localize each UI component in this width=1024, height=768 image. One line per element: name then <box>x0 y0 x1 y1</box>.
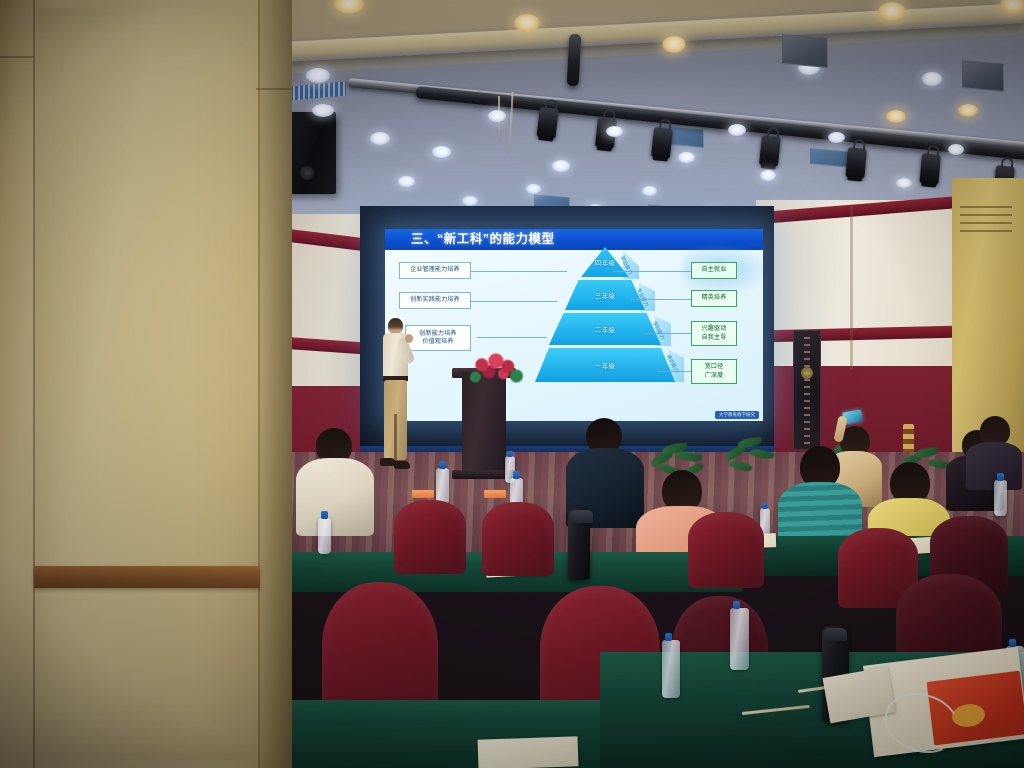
leader-line <box>477 337 547 338</box>
potted-plant <box>724 436 780 480</box>
audience-member-man-white-shirt <box>296 428 374 534</box>
pillar-face <box>34 8 260 760</box>
pyramid-tier-year2: 二年级 <box>549 313 661 345</box>
leader-line <box>657 371 693 372</box>
banquet-chair[interactable] <box>394 500 466 574</box>
person-torso <box>296 458 374 536</box>
projection-screen: 三、“新工科”的能力模型 一年级 二年级 三年级 四年级 职业能力 专业能力 学… <box>385 229 763 421</box>
slide-left-box-1: 企业管理能力培养 <box>399 262 471 279</box>
place-name-card <box>484 490 506 498</box>
paper-sheet <box>478 736 579 768</box>
box-line: 自主就业 <box>702 266 727 274</box>
ceiling-downlight <box>398 176 415 187</box>
stage-spotlight <box>759 135 781 167</box>
slide-left-box-2: 创新实践能力培养 <box>399 292 471 309</box>
box-line: 价值观培养 <box>422 338 453 346</box>
audience-member-left-far <box>966 416 1022 486</box>
ceiling-downlight <box>526 184 541 194</box>
leader-line <box>471 301 557 302</box>
foreground-wall-pillar <box>0 0 292 768</box>
ceiling-downlight <box>896 178 912 188</box>
stage-spotlight <box>845 147 867 179</box>
ac-vent <box>782 34 828 68</box>
ceiling-downlight <box>370 132 390 145</box>
presenter-hand <box>405 334 413 343</box>
wall-accent-band <box>756 196 964 225</box>
door-stud-row <box>804 337 810 445</box>
pillar-edge-shadow <box>260 0 292 768</box>
capability-pyramid: 一年级 二年级 三年级 四年级 职业能力 专业能力 学科能力 通识能力 <box>535 247 675 389</box>
water-bottle <box>994 480 1007 516</box>
ceiling-downlight <box>514 14 540 32</box>
stage-spotlight <box>919 153 941 185</box>
leader-line <box>471 271 567 272</box>
podium <box>462 372 506 478</box>
ceiling-downlight <box>552 160 570 172</box>
pillar-wood-trim <box>34 566 260 588</box>
water-bottle <box>318 518 331 554</box>
leader-line <box>631 299 693 300</box>
ceiling-downlight <box>678 152 695 163</box>
presenter <box>378 318 412 470</box>
ceiling-downlight <box>828 132 845 143</box>
water-bottle <box>730 608 749 670</box>
door-emblem-icon <box>801 367 813 379</box>
ceiling-downlight <box>760 170 776 181</box>
ceiling-downlight <box>958 104 978 117</box>
flower-arrangement <box>470 352 524 384</box>
slide-footer-logo: 大学教育教学研究 <box>715 411 759 419</box>
stage-spotlight <box>536 107 559 139</box>
ceiling-downlight <box>948 144 964 155</box>
pillar-seam <box>0 56 34 58</box>
ceiling-downlight <box>306 68 330 83</box>
place-name-card <box>412 490 434 498</box>
thermos-flask <box>568 508 590 580</box>
ceiling-downlight <box>728 124 746 136</box>
wall-seam <box>850 206 853 370</box>
presenter-leg-gap <box>394 414 397 460</box>
slide-right-box-1: 自主就业 <box>691 262 737 279</box>
box-line: 企业管理能力培养 <box>410 266 460 274</box>
conference-hall-photo: 三、“新工科”的能力模型 一年级 二年级 三年级 四年级 职业能力 专业能力 学… <box>0 0 1024 768</box>
box-line: 创新实践能力培养 <box>410 296 460 304</box>
presenter-head <box>388 318 403 334</box>
banquet-chair[interactable] <box>688 512 764 588</box>
ceiling-downlight <box>432 146 451 158</box>
pillar-seam <box>33 0 35 768</box>
box-line: 精英培养 <box>702 294 727 302</box>
water-bottle <box>436 468 449 504</box>
ceiling-downlight <box>462 196 478 206</box>
stage-spotlight <box>651 127 673 159</box>
slide-right-box-3: 兴趣驱动 自我主导 <box>691 321 737 346</box>
box-line: 创新能力培养 <box>419 330 456 338</box>
leader-line <box>643 333 693 334</box>
box-line: 广深度 <box>705 372 724 380</box>
presenter-shoe <box>394 461 410 469</box>
ac-vent <box>962 60 1004 92</box>
ceiling-downlight <box>878 2 906 21</box>
ceiling-downlight <box>886 110 906 123</box>
box-line: 自我主导 <box>702 334 727 342</box>
vent-grille-icon <box>290 82 346 101</box>
ceiling-downlight <box>488 110 506 122</box>
ceiling-downlight <box>312 104 334 117</box>
ceiling-downlight <box>642 186 657 196</box>
box-line: 兴趣驱动 <box>702 325 727 333</box>
leader-line <box>613 271 691 272</box>
wall-accent-band <box>756 325 964 342</box>
ceiling-downlight <box>606 126 623 137</box>
lighting-truss-rear <box>567 34 582 87</box>
slide-right-box-4: 宽口径 广深度 <box>691 359 737 384</box>
water-bottle <box>662 640 680 698</box>
box-line: 宽口径 <box>705 363 724 371</box>
slide-right-box-2: 精英培养 <box>691 290 737 307</box>
slide-left-box-3: 创新能力培养 价值观培养 <box>405 325 471 351</box>
ceiling <box>282 0 1024 232</box>
banquet-chair[interactable] <box>482 502 554 576</box>
decorative-door-panel[interactable] <box>793 330 821 450</box>
ceiling-downlight <box>662 36 686 53</box>
pyramid-tier-year3: 三年级 <box>565 280 645 310</box>
ceiling-downlight <box>922 72 942 86</box>
pyramid-tier-year1: 一年级 <box>535 348 675 382</box>
